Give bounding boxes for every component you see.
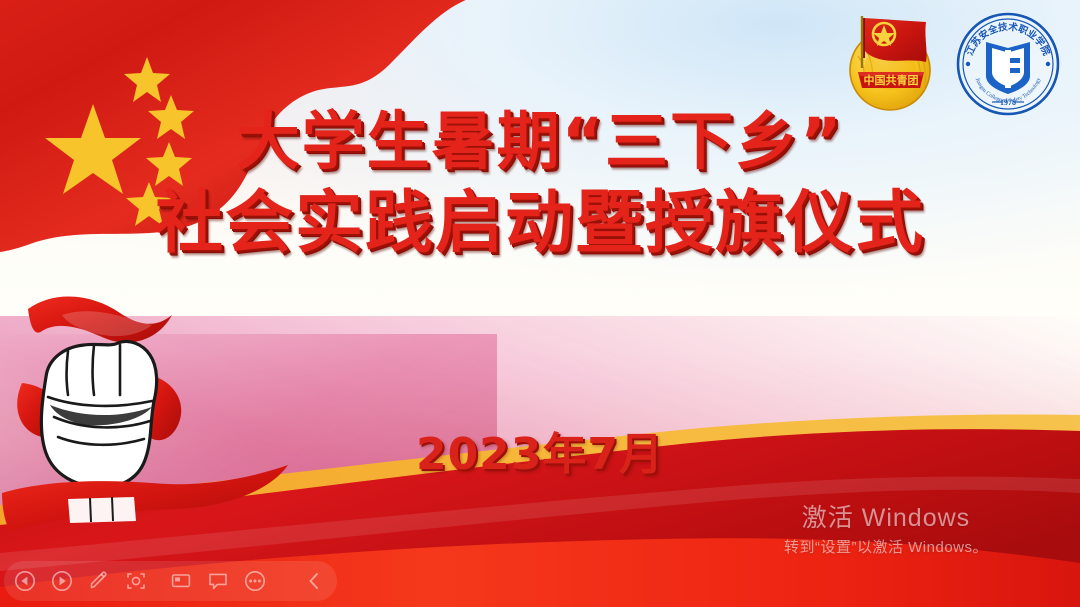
comment-bubble-icon [207,570,229,592]
jiangsu-college-of-safety-technology-emblem: 江苏安全技术职业学院 Jiangsu College of Safety Tec… [952,6,1064,122]
display-settings-button[interactable] [164,564,198,598]
previous-slide-button[interactable] [8,564,42,598]
more-dots-icon [244,570,266,592]
communist-youth-league-emblem: 中国共青团 [834,6,946,122]
screen-icon [170,570,192,592]
svg-text:中国共青团: 中国共青团 [864,73,919,87]
title-block: 大学生暑期“三下乡” 社会实践启动暨授旗仪式 [0,110,1080,258]
focus-frame-icon [125,570,147,592]
next-slide-button[interactable] [45,564,79,598]
notes-button[interactable] [201,564,235,598]
emblem-group: 中国共青团 江苏安全技术职业学院 Jiangsu College of Safe… [834,6,1064,122]
previous-icon [14,570,36,592]
chevron-left-icon [305,571,323,591]
watermark-subtitle: 转到“设置”以激活 Windows。 [784,536,988,557]
next-icon [51,570,73,592]
more-options-button[interactable] [238,564,272,598]
svg-text:1978: 1978 [1000,98,1016,107]
windows-activation-watermark: 激活 Windows 转到“设置”以激活 Windows。 [784,504,988,557]
pen-icon [88,570,110,592]
title-line-2: 社会实践启动暨授旗仪式 [0,190,1080,258]
collapse-toolbar-button[interactable] [299,564,329,598]
slideshow-toolbar[interactable] [4,561,337,601]
pen-tool-button[interactable] [82,564,116,598]
laser-pointer-button[interactable] [119,564,153,598]
watermark-title: 激活 Windows [784,504,988,532]
presentation-slide: 中国共青团 江苏安全技术职业学院 Jiangsu College of Safe… [0,0,1080,607]
slide-date: 2023年7月 [0,418,1080,482]
